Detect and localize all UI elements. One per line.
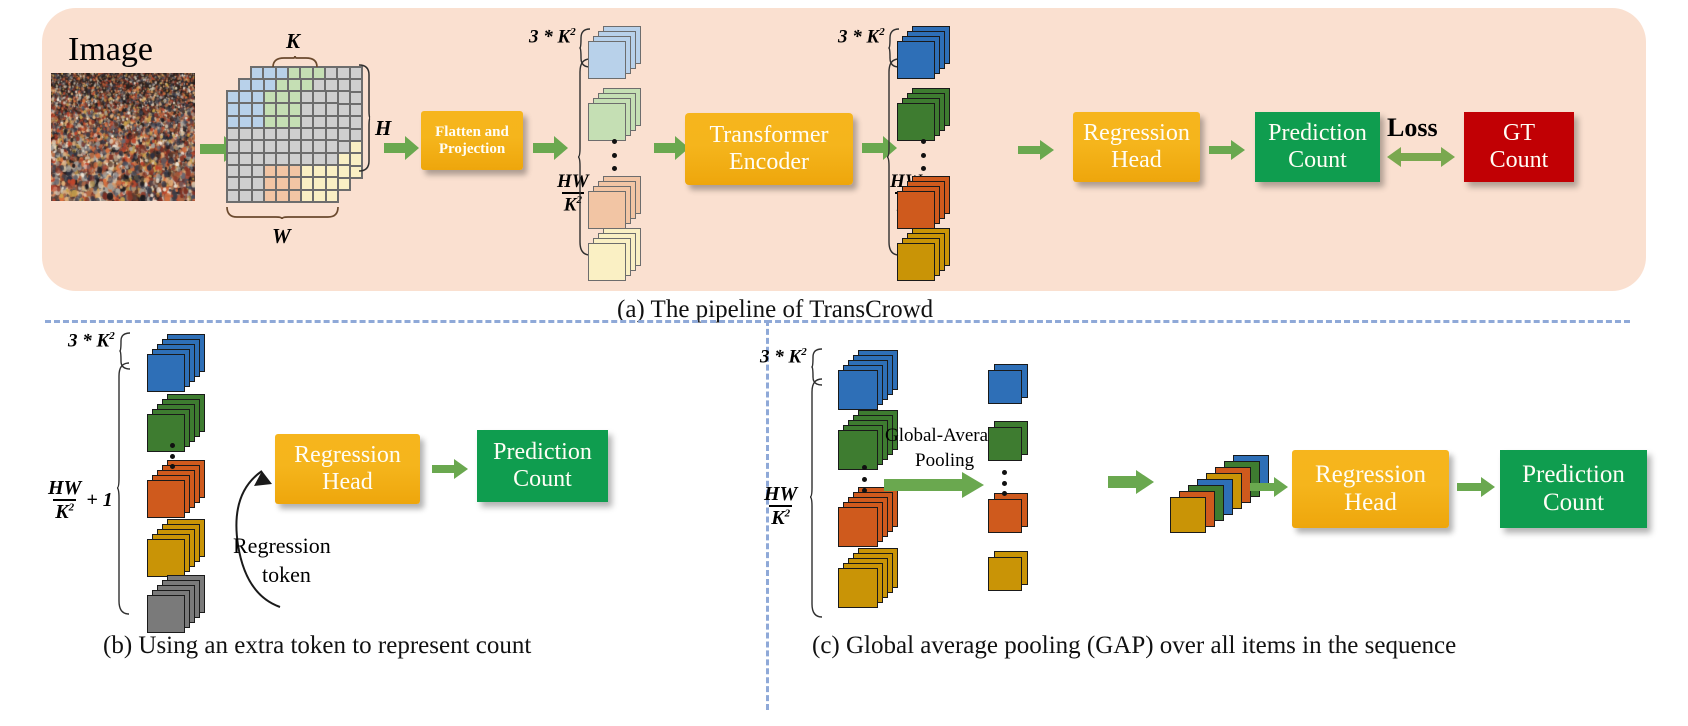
- regression-head-box-c[interactable]: Regression Head: [1292, 450, 1449, 528]
- arrow-flatten-to-patches: [533, 136, 568, 160]
- patch-card: [988, 557, 1022, 591]
- grid-cell: [276, 103, 288, 115]
- grid-cell: [338, 128, 350, 140]
- grid-cell: [239, 103, 251, 115]
- grid-cell: [227, 103, 239, 115]
- gap-label-line2: Pooling: [915, 450, 974, 472]
- prediction-count-box-c[interactable]: Prediction Count: [1500, 450, 1647, 528]
- flatten-box-line1: Flatten and: [435, 124, 509, 141]
- patch-card: [897, 103, 935, 141]
- grid-cell: [338, 178, 350, 190]
- grid-cell: [289, 165, 301, 177]
- grid-cell: [313, 153, 325, 165]
- h-brace: [358, 64, 371, 172]
- arrow-gap: [884, 472, 984, 498]
- grid-cell: [326, 91, 338, 103]
- grid-cell: [301, 177, 313, 189]
- patch-card: [588, 243, 626, 281]
- w-label: W: [272, 224, 291, 249]
- grid-cell: [252, 153, 264, 165]
- grid-cell: [276, 128, 288, 140]
- grid-cell: [264, 116, 276, 128]
- divider-top-left: [45, 320, 770, 323]
- grid-cell: [276, 165, 288, 177]
- ellipsis-b: [169, 443, 175, 469]
- feature-map-layer-1: [226, 90, 339, 203]
- grid-cell: [313, 140, 325, 152]
- grid-cell: [326, 128, 338, 140]
- token-stack-a-green: [897, 88, 950, 141]
- pooled-square-green: [988, 421, 1028, 461]
- patch-card: [588, 41, 626, 79]
- prediction-box-c-line1: Prediction: [1522, 461, 1625, 489]
- gt-box-line1: GT: [1503, 120, 1535, 147]
- grid-cell: [252, 116, 264, 128]
- patch-card: [988, 427, 1022, 461]
- arrow-regression-to-prediction: [1209, 140, 1245, 160]
- grid-cell: [338, 104, 350, 116]
- patch-card: [588, 103, 626, 141]
- prediction-box-c-line2: Count: [1543, 489, 1604, 517]
- grid-cell: [338, 153, 350, 165]
- channel-label-b: 3 * K2: [68, 330, 115, 352]
- regression-box-a-line2: Head: [1111, 147, 1162, 174]
- gt-count-box[interactable]: GT Count: [1464, 112, 1574, 182]
- grid-cell: [264, 128, 276, 140]
- grid-cell: [264, 177, 276, 189]
- ellipsis-a2: [920, 139, 926, 171]
- grid-cell: [313, 103, 325, 115]
- merged-patch-card: [1170, 497, 1206, 533]
- grid-cell: [313, 190, 325, 202]
- grid-cell: [338, 79, 350, 91]
- grid-cell: [326, 177, 338, 189]
- grid-cell: [227, 91, 239, 103]
- grid-cell: [276, 153, 288, 165]
- grid-cell: [239, 116, 251, 128]
- grid-cell: [252, 140, 264, 152]
- grid-cell: [326, 190, 338, 202]
- patch-card: [838, 370, 878, 410]
- seq-plus-b: + 1: [86, 489, 112, 512]
- prediction-count-box-b[interactable]: Prediction Count: [477, 430, 608, 502]
- regression-box-c-line2: Head: [1344, 489, 1397, 517]
- grid-cell: [264, 91, 276, 103]
- regression-box-a-line1: Regression: [1083, 120, 1190, 147]
- grid-cell: [289, 91, 301, 103]
- seq-num-b: HW: [46, 478, 83, 499]
- grid-cell: [289, 190, 301, 202]
- grid-cell: [338, 165, 350, 177]
- patch-stack-a-yellow: [588, 228, 641, 281]
- caption-b: (b) Using an extra token to represent co…: [103, 632, 531, 660]
- grid-cell: [326, 153, 338, 165]
- grid-cell: [301, 128, 313, 140]
- ellipsis-c1: [861, 465, 867, 493]
- channel-label-c: 3 * K2: [760, 346, 807, 368]
- grid-cell: [239, 91, 251, 103]
- prediction-box-a-line2: Count: [1288, 147, 1347, 174]
- w-brace: [226, 206, 340, 220]
- arrow-pooled-to-merged: [1108, 470, 1154, 494]
- grid-cell: [326, 140, 338, 152]
- arrow-merged-to-regression: [1250, 477, 1288, 497]
- token-stack-a-blue: [897, 26, 950, 79]
- grid-cell: [276, 91, 288, 103]
- grid-cell: [264, 190, 276, 202]
- sequence-length-label-c: HW K2: [762, 484, 799, 528]
- channel-label-a2: 3 * K2: [838, 26, 885, 48]
- regression-box-b-line2: Head: [322, 469, 373, 496]
- encoder-box-line1: Transformer: [709, 122, 828, 149]
- patch-stack-a-green: [588, 88, 641, 141]
- grid-cell: [301, 190, 313, 202]
- token-stack-c-gold: [838, 548, 898, 608]
- pooled-square-orange: [988, 493, 1028, 533]
- regression-head-box-b[interactable]: Regression Head: [275, 434, 420, 504]
- grid-cell: [301, 153, 313, 165]
- grid-cell: [289, 177, 301, 189]
- ellipsis-a1: [611, 139, 617, 171]
- prediction-box-b-line1: Prediction: [493, 439, 592, 466]
- grid-cell: [239, 128, 251, 140]
- grid-cell: [227, 153, 239, 165]
- arrow-output-to-regression: [1018, 140, 1054, 160]
- patch-card: [838, 430, 878, 470]
- patch-card: [897, 191, 935, 229]
- grid-cell: [227, 190, 239, 202]
- patch-card: [838, 507, 878, 547]
- k-brace: [272, 56, 318, 68]
- grid-cell: [289, 116, 301, 128]
- arrow-grid-to-flatten: [384, 136, 419, 160]
- regression-head-box-a[interactable]: Regression Head: [1073, 112, 1200, 182]
- grid-cell: [264, 140, 276, 152]
- grid-cell: [252, 91, 264, 103]
- grid-cell: [338, 91, 350, 103]
- grid-cell: [264, 103, 276, 115]
- token-stack-a-orange: [897, 176, 950, 229]
- grid-cell: [239, 165, 251, 177]
- channel-label-a1: 3 * K2: [529, 26, 576, 48]
- arrow-patches-to-encoder: [654, 136, 689, 160]
- grid-cell: [239, 177, 251, 189]
- grid-cell: [276, 116, 288, 128]
- grid-cell: [239, 153, 251, 165]
- grid-cell: [264, 165, 276, 177]
- grid-cell: [289, 140, 301, 152]
- token-stack-c-blue: [838, 350, 898, 410]
- regression-token-label-line2: token: [262, 562, 311, 588]
- patch-card: [147, 354, 185, 392]
- pooled-square-blue: [988, 364, 1028, 404]
- grid-cell: [326, 116, 338, 128]
- patch-card: [897, 41, 935, 79]
- grid-cell: [227, 165, 239, 177]
- token-stack-b-green: [147, 394, 205, 452]
- grid-cell: [239, 140, 251, 152]
- flatten-and-projection-box[interactable]: Flatten and Projection: [421, 111, 523, 170]
- patch-stack-a-orange: [588, 176, 641, 229]
- grid-cell: [227, 128, 239, 140]
- token-stack-b-blue: [147, 334, 205, 392]
- flatten-box-line2: Projection: [439, 141, 505, 158]
- grid-cell: [239, 190, 251, 202]
- grid-cell: [276, 190, 288, 202]
- sequence-length-label-b: HW K2 + 1: [46, 478, 113, 522]
- patch-card: [838, 568, 878, 608]
- regression-box-b-line1: Regression: [294, 442, 401, 469]
- grid-cell: [252, 177, 264, 189]
- ellipsis-c2: [1001, 470, 1007, 496]
- patch-card: [588, 191, 626, 229]
- grid-cell: [252, 165, 264, 177]
- grid-cell: [289, 153, 301, 165]
- regression-box-c-line1: Regression: [1315, 461, 1426, 489]
- encoder-box-line2: Encoder: [729, 149, 809, 176]
- grid-cell: [289, 128, 301, 140]
- regression-token-label-line1: Regression: [233, 533, 331, 559]
- sequence-brace-c: [809, 378, 823, 618]
- grid-cell: [276, 140, 288, 152]
- caption-c: (c) Global average pooling (GAP) over al…: [812, 632, 1456, 660]
- grid-cell: [313, 116, 325, 128]
- loss-double-arrow: [1387, 147, 1455, 167]
- prediction-box-b-line2: Count: [513, 466, 572, 493]
- loss-label: Loss: [1387, 113, 1438, 143]
- grid-cell: [301, 116, 313, 128]
- grid-cell: [289, 103, 301, 115]
- grid-cell: [313, 165, 325, 177]
- grid-cell: [301, 91, 313, 103]
- k-label: K: [286, 29, 300, 54]
- grid-cell: [326, 165, 338, 177]
- patch-stack-a-blue: [588, 26, 641, 79]
- grid-cell: [301, 140, 313, 152]
- prediction-box-a-line1: Prediction: [1268, 120, 1367, 147]
- patch-card: [147, 414, 185, 452]
- grid-cell: [338, 116, 350, 128]
- pooled-square-gold: [988, 551, 1028, 591]
- patch-card: [988, 370, 1022, 404]
- grid-cell: [313, 177, 325, 189]
- grid-cell: [313, 128, 325, 140]
- transformer-encoder-box[interactable]: Transformer Encoder: [685, 113, 853, 185]
- patch-card: [897, 243, 935, 281]
- patch-card: [147, 539, 185, 577]
- grid-cell: [301, 165, 313, 177]
- grid-cell: [338, 141, 350, 153]
- prediction-count-box-a[interactable]: Prediction Count: [1255, 112, 1380, 182]
- patch-card: [147, 480, 185, 518]
- patch-card: [988, 499, 1022, 533]
- grid-cell: [276, 177, 288, 189]
- seq-num-c: HW: [762, 484, 799, 505]
- arrow-regression-to-prediction-c: [1457, 477, 1495, 497]
- seq-den-b: K2: [53, 499, 76, 522]
- sequence-brace-b: [116, 362, 130, 615]
- grid-cell: [227, 177, 239, 189]
- gt-box-line2: Count: [1490, 147, 1549, 174]
- grid-cell: [301, 103, 313, 115]
- seq-den-c: K2: [769, 505, 792, 528]
- grid-cell: [252, 103, 264, 115]
- divider-top-right: [766, 320, 1630, 323]
- crowd-image: [51, 73, 195, 201]
- grid-cell: [326, 103, 338, 115]
- grid-cell: [264, 153, 276, 165]
- image-label: Image: [68, 31, 153, 69]
- arrow-regression-to-prediction-b: [432, 459, 468, 479]
- grid-cell: [227, 140, 239, 152]
- token-stack-a-gold: [897, 228, 950, 281]
- grid-cell: [252, 190, 264, 202]
- grid-cell: [227, 116, 239, 128]
- grid-cell: [313, 91, 325, 103]
- grid-cell: [252, 128, 264, 140]
- patch-card: [147, 595, 185, 633]
